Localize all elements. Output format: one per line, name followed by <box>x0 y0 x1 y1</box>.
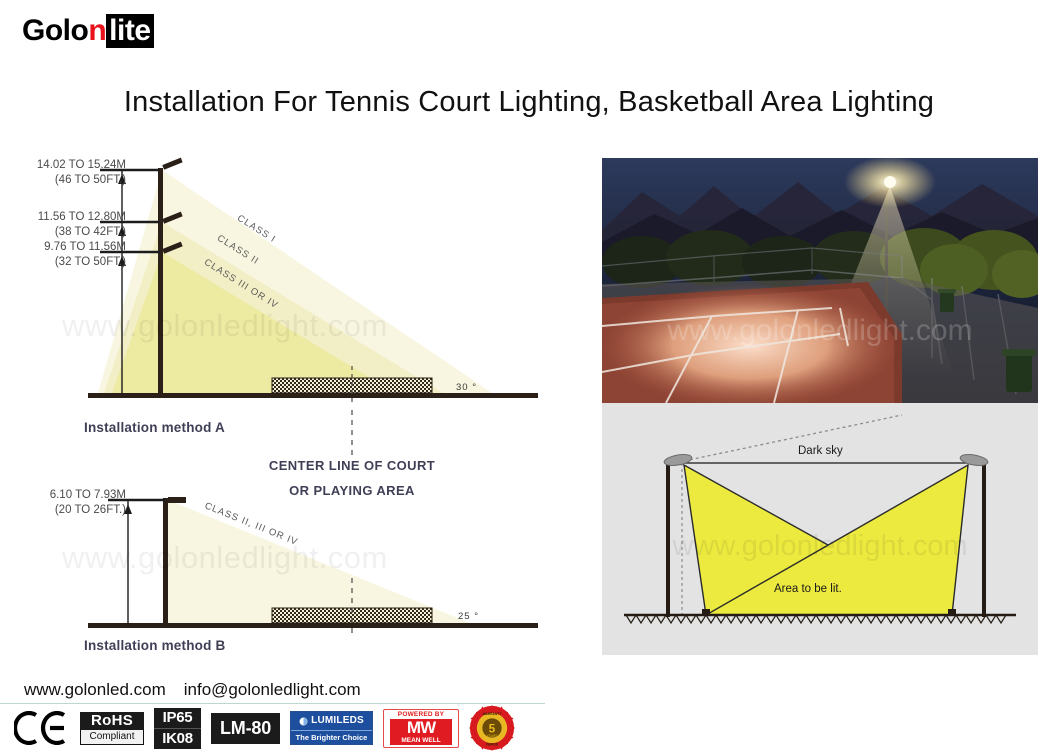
dimension-label-1: 14.02 TO 15.24M (46 TO 50FT.) <box>8 158 126 188</box>
dimension-label-2: 11.56 TO 12.80M (38 TO 42FT.) <box>8 210 126 240</box>
court-render: www.golonledlight.com <box>602 158 1038 403</box>
tennis-court-night-photo: www.golonledlight.com <box>602 158 1038 403</box>
ik08-label: IK08 <box>154 729 201 749</box>
rohs-label: RoHS <box>80 712 144 730</box>
bin-2 <box>1002 349 1036 392</box>
watermark-photo: www.golonledlight.com <box>666 314 972 347</box>
diagram-method-a <box>0 148 600 423</box>
dark-sky-label: Dark sky <box>798 445 843 457</box>
dark-sky-diagram-panel: www.golonledlight.com Dark sky Area to b… <box>602 403 1038 655</box>
rohs-compliant-label: Compliant <box>80 730 144 745</box>
lm80-label: LM-80 <box>211 713 280 744</box>
ingress-protection-badge: IP65 IK08 <box>154 709 201 747</box>
ground-line-a <box>88 393 538 398</box>
lumileds-row: LUMILEDS <box>291 712 372 730</box>
area-to-be-lit-label: Area to be lit. <box>774 583 842 595</box>
dimension-label-b: 6.10 TO 7.93M (20 TO 26FT.) <box>8 488 126 518</box>
dimension-label-3: 9.76 TO 11.56M (32 TO 50FT.) <box>8 240 126 270</box>
luminaire-head-b <box>168 497 186 503</box>
logo-text-part2: n <box>88 14 106 47</box>
footer-website[interactable]: www.golonled.com <box>24 680 166 699</box>
svg-text:YEARS: YEARS <box>487 734 498 738</box>
ip65-label: IP65 <box>154 708 201 729</box>
footer-divider <box>0 703 545 704</box>
svg-text:5: 5 <box>489 722 496 736</box>
lm80-badge: LM-80 <box>211 709 280 747</box>
footer-email[interactable]: info@golonledlight.com <box>184 680 361 699</box>
rohs-badge: RoHS Compliant <box>80 709 144 747</box>
lumileds-badge: LUMILEDS The Brighter Choice <box>290 709 373 747</box>
ground-line-b <box>88 623 538 628</box>
beam-angle-label-a: 30 ° <box>456 382 477 393</box>
meanwell-name-label: MEAN WELL <box>390 736 452 745</box>
watermark-left-bottom: www.golonledlight.com <box>62 540 388 576</box>
lumileds-tagline: The Brighter Choice <box>291 730 372 744</box>
dark-sky-diagram: www.golonledlight.com <box>602 403 1038 655</box>
warranty-badge: 5 YEARS WARRANTY PERIOD <box>469 709 515 747</box>
page-title: Installation For Tennis Court Lighting, … <box>0 86 1058 119</box>
sky-pole-left <box>666 461 670 617</box>
ce-badge <box>14 709 70 747</box>
brand-logo: Golonlite <box>22 16 154 46</box>
svg-text:WARRANTY: WARRANTY <box>483 712 502 716</box>
beam-base-right <box>948 609 956 616</box>
lumileds-logo-icon <box>299 717 308 726</box>
bin-1 <box>938 289 956 312</box>
method-b-label: Installation method B <box>84 638 225 653</box>
certification-badges: RoHS Compliant IP65 IK08 LM-80 LUMILEDS … <box>14 708 515 748</box>
pole-a <box>158 168 163 394</box>
watermark-left-top: www.golonledlight.com <box>62 308 388 344</box>
warranty-seal-icon: 5 YEARS WARRANTY PERIOD <box>469 705 515 751</box>
watermark-sky: www.golonledlight.com <box>672 530 968 562</box>
beam-base-left <box>702 609 710 616</box>
lumileds-label: LUMILEDS <box>311 712 364 730</box>
center-line-text-1: CENTER LINE OF COURT <box>172 458 532 473</box>
beam-angle-label-b: 25 ° <box>458 611 479 622</box>
installation-diagrams-panel: 14.02 TO 15.24M (46 TO 50FT.) 11.56 TO 1… <box>0 148 600 668</box>
luminaire-head-top <box>162 158 182 170</box>
svg-text:PERIOD: PERIOD <box>486 742 499 746</box>
sky-pole-right <box>982 461 986 617</box>
meanwell-badge: POWERED BY MW MEAN WELL <box>383 709 459 747</box>
logo-text-part3: lite <box>106 14 153 48</box>
footer-contact-info: www.golonled.cominfo@golonledlight.com <box>24 680 361 700</box>
ce-mark-icon <box>14 711 70 745</box>
logo-text-part1: Golo <box>22 14 88 47</box>
meanwell-logo-label: MW <box>390 719 452 736</box>
